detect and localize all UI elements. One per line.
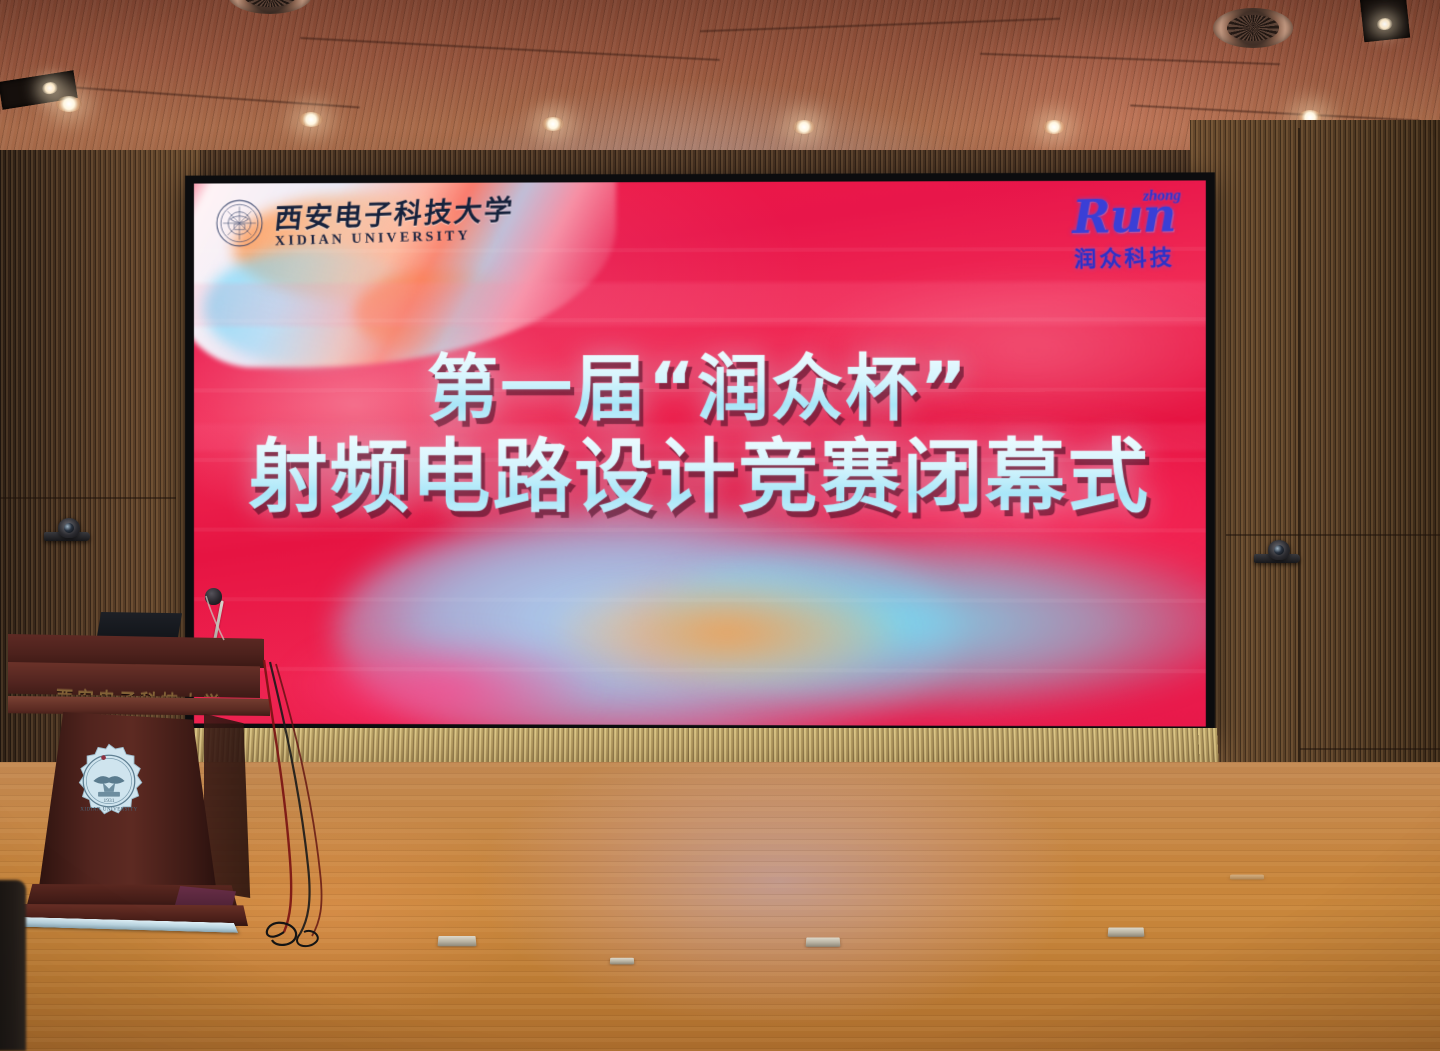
floor-outlet-plate bbox=[806, 937, 841, 946]
svg-text:XIDIAN UNIVERSITY: XIDIAN UNIVERSITY bbox=[80, 807, 137, 813]
event-title-line2: 射频电路设计竞赛闭幕式 bbox=[194, 434, 1206, 521]
ribbon-shape-orange bbox=[556, 578, 900, 687]
event-title-line1: 第一届“润众杯” bbox=[194, 350, 1206, 428]
microphone-cable bbox=[198, 594, 238, 644]
auditorium-scene: 西安电子科技大学 XIDIAN UNIVERSITY Run zhong 润众科… bbox=[0, 0, 1440, 1051]
wall-seam bbox=[1226, 534, 1440, 536]
event-title-block: 第一届“润众杯” 射频电路设计竞赛闭幕式 bbox=[194, 350, 1206, 521]
wall-slat-texture bbox=[1190, 120, 1440, 800]
downlight-icon bbox=[56, 96, 82, 112]
right-wall bbox=[1190, 120, 1440, 800]
spotlight-icon bbox=[1376, 17, 1393, 31]
podium-cables bbox=[250, 650, 370, 950]
xidian-university-logo: 西安电子科技大学 XIDIAN UNIVERSITY bbox=[214, 197, 514, 250]
ceiling-air-vent bbox=[1213, 8, 1293, 48]
floor-outlet-plate bbox=[610, 958, 634, 965]
svg-text:1931: 1931 bbox=[104, 798, 115, 804]
ceiling-light-slot bbox=[1360, 0, 1410, 42]
foreground-object bbox=[0, 880, 26, 1051]
led-screen: 西安电子科技大学 XIDIAN UNIVERSITY Run zhong 润众科… bbox=[194, 180, 1206, 726]
sponsor-wordmark-row: Run zhong bbox=[1071, 192, 1175, 240]
floor-outlet-plate bbox=[1108, 927, 1145, 936]
wall-seam bbox=[0, 497, 176, 499]
xidian-crest-icon: 1931 XIDIAN UNIVERSITY bbox=[70, 742, 148, 820]
sponsor-name-cn: 润众科技 bbox=[1072, 240, 1176, 274]
camera-lens-icon bbox=[1274, 545, 1284, 555]
floor-outlet-plate bbox=[438, 936, 477, 946]
wall-corner bbox=[1298, 128, 1300, 818]
sponsor-logo: Run zhong 润众科技 bbox=[1071, 192, 1175, 274]
floor-seam bbox=[1230, 875, 1264, 880]
downlight-icon bbox=[1043, 120, 1065, 134]
podium-lip bbox=[8, 696, 270, 716]
podium-front-panel: 西安电子科技大学 bbox=[8, 662, 260, 698]
podium: 西安电子科技大学 1931 XIDIAN UNIVERSITY bbox=[8, 612, 276, 942]
wall-seam bbox=[1300, 748, 1440, 750]
header-streak-orange bbox=[354, 269, 535, 356]
xidian-emblem-icon bbox=[214, 197, 265, 249]
downlight-icon bbox=[542, 117, 564, 131]
university-name-cn: 西安电子科技大学 bbox=[273, 196, 515, 233]
sponsor-superscript: zhong bbox=[1142, 188, 1180, 206]
downlight-icon bbox=[793, 120, 815, 134]
spotlight-icon bbox=[41, 81, 59, 95]
downlight-icon bbox=[299, 112, 323, 127]
camera-lens-icon bbox=[64, 523, 74, 533]
xidian-logo-text: 西安电子科技大学 XIDIAN UNIVERSITY bbox=[275, 200, 513, 245]
